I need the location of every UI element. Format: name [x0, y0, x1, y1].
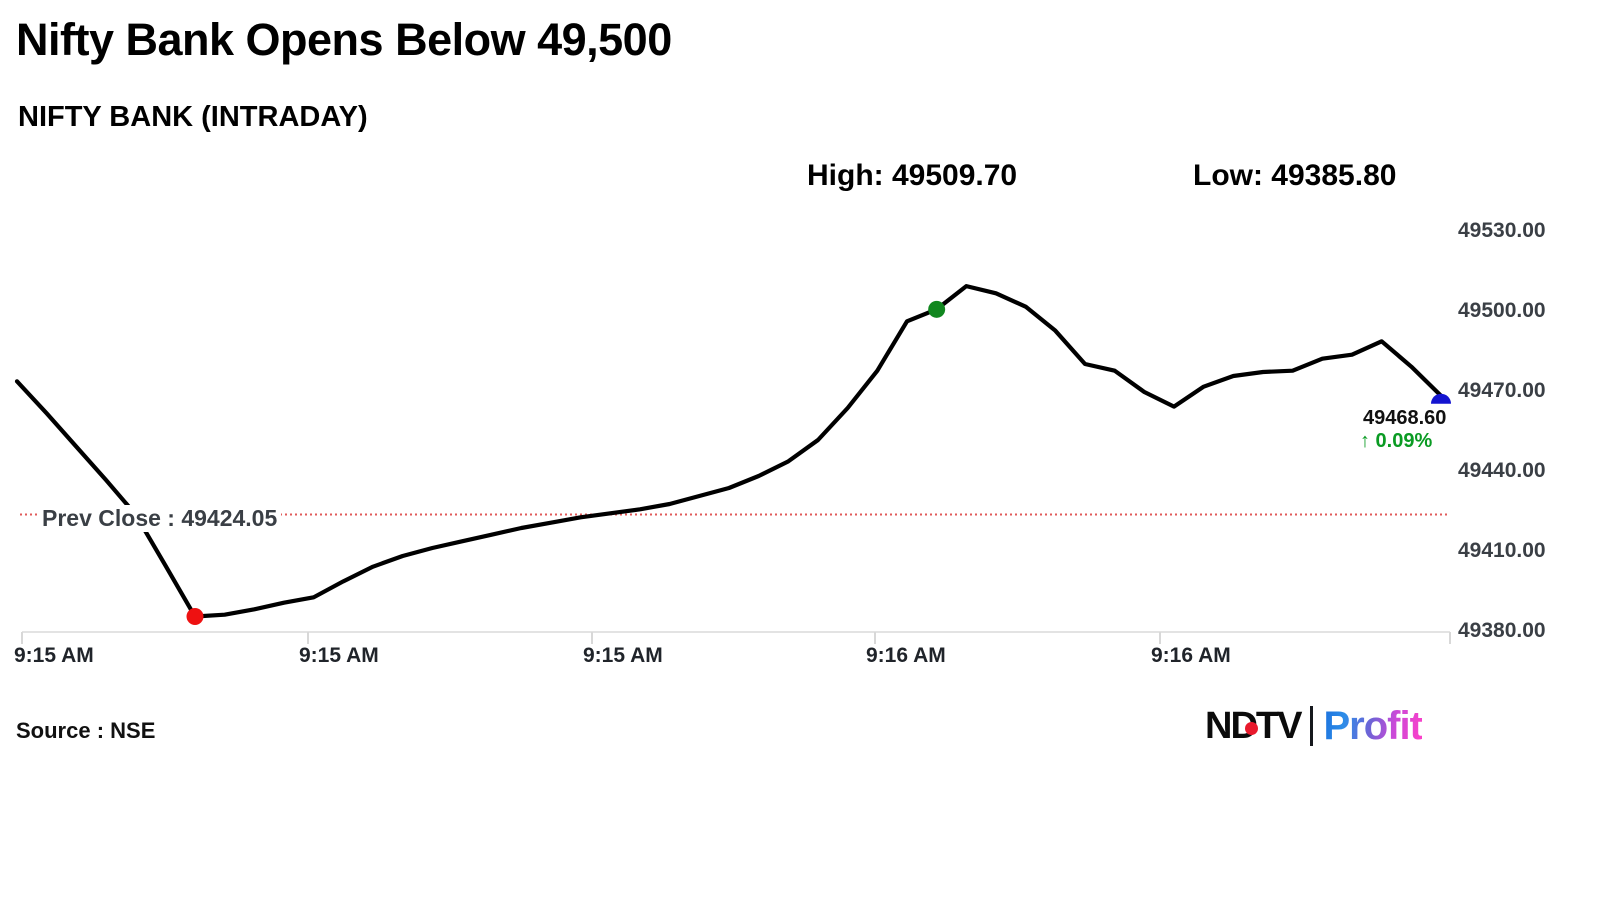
prev-close-label: Prev Close : 49424.05	[38, 505, 281, 532]
source-label: Source : NSE	[16, 718, 155, 744]
x-axis-tick-label: 9:15 AM	[14, 644, 94, 668]
x-axis-tick-label: 9:15 AM	[583, 644, 663, 668]
price-line	[17, 286, 1441, 616]
last-change-label: ↑ 0.09%	[1360, 430, 1432, 453]
y-axis-tick-label: 49530.00	[1458, 219, 1546, 243]
x-axis-tick-label: 9:16 AM	[1151, 644, 1231, 668]
high-marker	[928, 301, 945, 318]
last-price-marker	[1431, 394, 1451, 404]
logo-divider	[1310, 706, 1313, 746]
profit-wordmark: Profit	[1323, 704, 1421, 749]
last-price-label: 49468.60	[1363, 407, 1446, 430]
low-marker	[187, 608, 204, 625]
x-axis-tick-label: 9:15 AM	[299, 644, 379, 668]
x-axis-tick-label: 9:16 AM	[866, 644, 946, 668]
chart-page: Nifty Bank Opens Below 49,500 NIFTY BANK…	[0, 0, 1600, 900]
y-axis-tick-label: 49470.00	[1458, 379, 1546, 403]
y-axis-tick-label: 49410.00	[1458, 539, 1546, 563]
y-axis-tick-label: 49440.00	[1458, 459, 1546, 483]
y-axis-tick-label: 49500.00	[1458, 299, 1546, 323]
ndtv-profit-logo: NDTV Profit	[1205, 703, 1422, 749]
ndtv-dot-icon	[1245, 722, 1258, 735]
y-axis-tick-label: 49380.00	[1458, 619, 1546, 643]
ndtv-wordmark: NDTV	[1205, 705, 1300, 748]
